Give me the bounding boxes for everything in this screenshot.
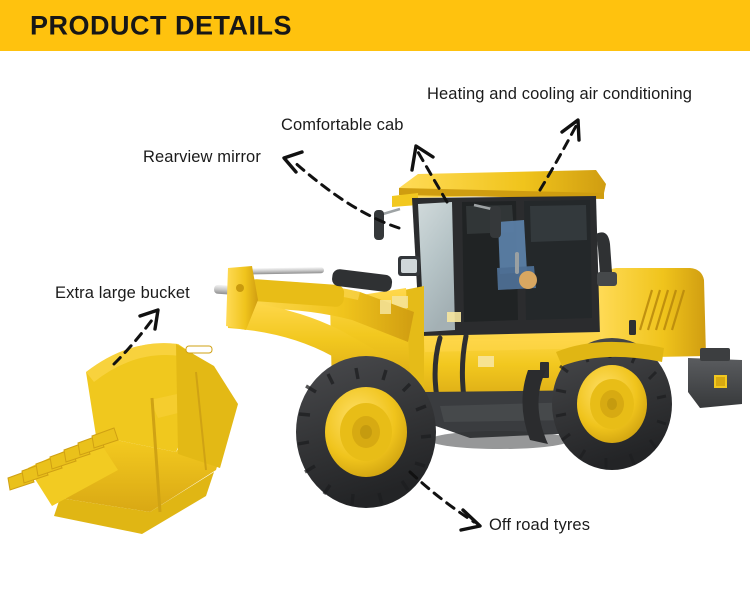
callout-label-rearview-mirror: Rearview mirror: [143, 148, 261, 167]
loader-bucket: [8, 343, 238, 534]
callout-label-extra-large-bucket: Extra large bucket: [55, 284, 190, 303]
callout-label-comfortable-cab: Comfortable cab: [281, 116, 404, 135]
front-tyre: [296, 356, 436, 508]
counterweight: [688, 348, 742, 408]
exhaust-stack: [596, 232, 617, 286]
product-details-page: PRODUCT DETAILS: [0, 0, 750, 591]
callout-label-air-conditioning: Heating and cooling air conditioning: [427, 85, 692, 104]
callout-label-off-road-tyres: Off road tyres: [489, 516, 590, 535]
